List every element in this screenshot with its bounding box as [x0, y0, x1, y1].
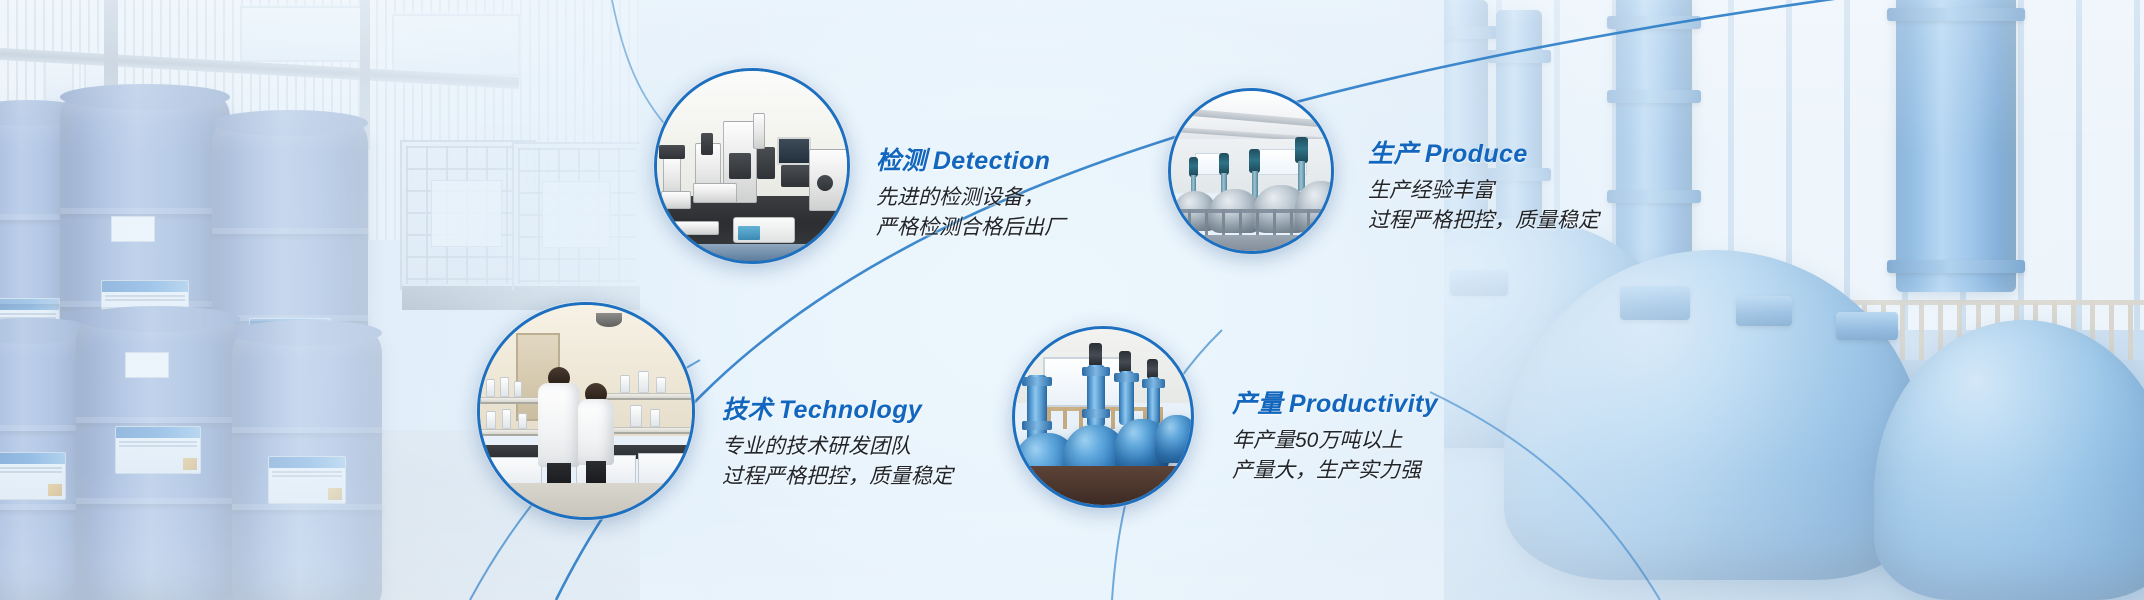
factory-floor	[1171, 235, 1331, 251]
detection-line-2: 严格检测合格后出厂	[876, 213, 1065, 243]
produce-text-block: 生产Produce 生产经验丰富 过程严格把控，质量稳定	[1368, 140, 1599, 235]
productivity-title-cn: 产量	[1232, 390, 1283, 418]
reagent-bottle	[486, 411, 496, 429]
detection-text-block: 检测Detection 先进的检测设备， 严格检测合格后出厂	[876, 147, 1065, 242]
lab-technician	[538, 367, 580, 489]
reagent-bottle	[620, 375, 630, 393]
lab-instrument	[661, 191, 691, 209]
lab-instrument	[757, 147, 775, 179]
agitator-motor	[1295, 137, 1308, 163]
instrument-knob	[817, 175, 833, 191]
microscope-body	[701, 133, 713, 155]
reactor-column	[1027, 375, 1047, 441]
technology-title: 技术Technology	[722, 396, 953, 425]
reagent-bottle	[514, 381, 522, 397]
productivity-text-block: 产量Productivity 年产量50万吨以上 产量大，生产实力强	[1232, 390, 1438, 485]
microscope-head	[729, 153, 751, 179]
productivity-title-en: Productivity	[1283, 390, 1438, 418]
produce-title-cn: 生产	[1368, 140, 1419, 168]
lab-floor	[480, 483, 692, 517]
technology-lab-staff-photo[interactable]	[477, 302, 695, 520]
reagent-bottle	[500, 377, 509, 397]
technology-line-1: 专业的技术研发团队	[722, 432, 953, 462]
technician-lab-coat	[538, 383, 580, 467]
reagent-bottle	[638, 371, 649, 393]
lab-instrument	[693, 183, 737, 203]
produce-title-en: Produce	[1419, 140, 1528, 168]
lab-instrument	[781, 165, 811, 187]
detection-title: 检测Detection	[876, 147, 1065, 176]
produce-line-2: 过程严格把控，质量稳定	[1368, 206, 1599, 236]
reagent-bottle	[630, 405, 642, 427]
detection-line-1: 先进的检测设备，	[876, 183, 1065, 213]
reactor-column	[1119, 371, 1134, 425]
scale-display	[738, 226, 760, 240]
agitator-motor	[1089, 343, 1102, 367]
detection-title-en: Detection	[927, 147, 1051, 175]
lab-tray	[671, 221, 719, 235]
reagent-bottle	[518, 413, 527, 429]
factory-window	[1043, 357, 1129, 407]
productivity-line-2: 产量大，生产实力强	[1232, 456, 1438, 486]
agitator-motor	[1219, 153, 1229, 175]
blue-reactor-tank	[1155, 415, 1191, 463]
technology-title-cn: 技术	[722, 396, 773, 424]
lab-technician	[578, 383, 614, 487]
agitator-motor	[1189, 157, 1198, 177]
productivity-title: 产量Productivity	[1232, 390, 1438, 419]
reagent-bottle	[502, 409, 511, 429]
detection-lab-instruments-photo[interactable]	[654, 68, 850, 264]
reagent-bottle	[486, 379, 495, 397]
productivity-line-1: 年产量50万吨以上	[1232, 426, 1438, 456]
produce-factory-reactors-photo[interactable]	[1168, 88, 1334, 254]
company-strengths-banner: 检测Detection 先进的检测设备， 严格检测合格后出厂	[0, 0, 2144, 600]
factory-floor	[1015, 466, 1191, 505]
reagent-bottle	[650, 409, 660, 427]
produce-title: 生产Produce	[1368, 140, 1599, 169]
decorative-arc-lines	[0, 0, 2144, 600]
technology-line-2: 过程严格把控，质量稳定	[722, 462, 953, 492]
reactor-column	[1087, 365, 1105, 427]
lab-instrument	[659, 145, 685, 159]
productivity-blue-reactors-photo[interactable]	[1012, 326, 1194, 508]
bench-scale	[733, 217, 795, 243]
technology-text-block: 技术Technology 专业的技术研发团队 过程严格把控，质量稳定	[722, 396, 953, 491]
produce-line-1: 生产经验丰富	[1368, 176, 1599, 206]
reagent-bottle	[656, 377, 666, 393]
technician-lab-coat	[578, 399, 614, 465]
reactor-column	[1147, 377, 1160, 425]
technology-title-en: Technology	[773, 396, 922, 424]
detection-title-cn: 检测	[876, 147, 927, 175]
agitator-motor	[1249, 149, 1260, 173]
lab-instrument	[753, 113, 765, 149]
agitator-motor	[1147, 359, 1158, 379]
ceiling-lamp	[596, 313, 622, 327]
agitator-motor	[1119, 351, 1131, 373]
instrument-display	[777, 137, 811, 165]
